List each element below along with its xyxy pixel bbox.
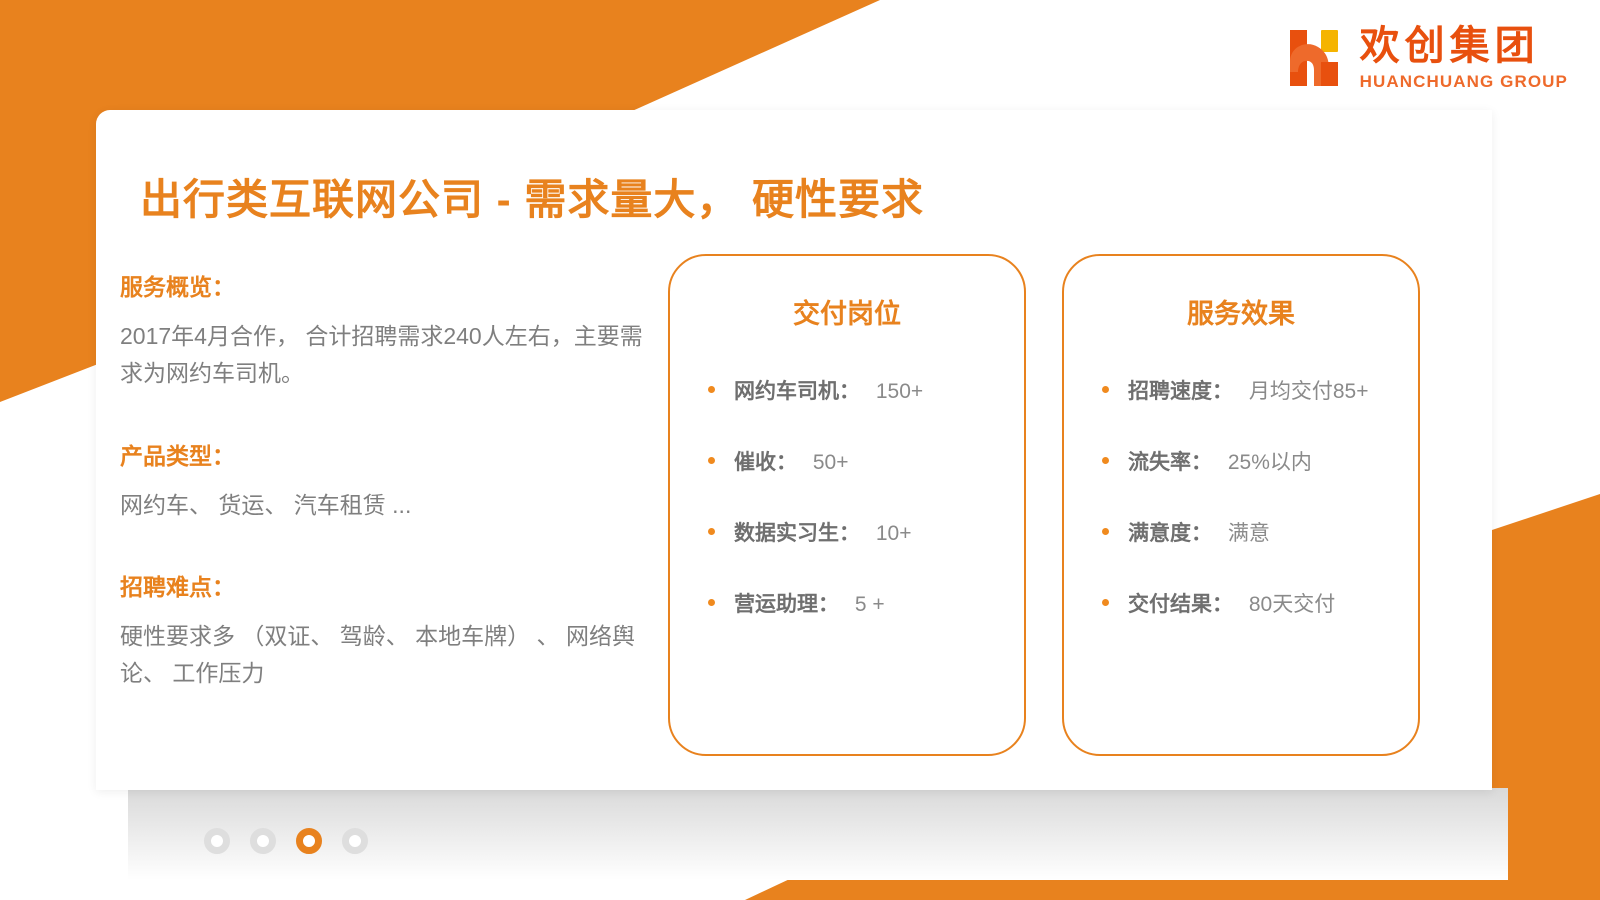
bullet-icon (1102, 528, 1109, 535)
panel-item-list: 网约车司机： 150+ 催收： 50+ 数据实习生： 10+ 营运助理： 5 + (670, 375, 1024, 618)
info-body: 硬性要求多 （双证、 驾龄、 本地车牌） 、 网络舆论、 工作压力 (120, 618, 660, 693)
slide-canvas: 欢创集团 HUANCHUANG GROUP 出行类互联网公司 - 需求量大， 硬… (0, 0, 1600, 900)
page-title: 出行类互联网公司 - 需求量大， 硬性要求 (140, 166, 924, 227)
item-label: 满意度： (1128, 522, 1212, 545)
list-item: 流失率： 25%以内 (1094, 446, 1404, 476)
info-heading: 服务概览： (120, 268, 660, 302)
info-heading: 产品类型： (120, 437, 660, 471)
item-value: 月均交付85+ (1249, 380, 1369, 403)
item-value: 50+ (813, 451, 849, 474)
item-value: 150+ (876, 380, 923, 403)
panel-title: 服务效果 (1064, 292, 1418, 331)
item-label: 数据实习生： (734, 522, 860, 545)
brand-logo: 欢创集团 HUANCHUANG GROUP (1280, 22, 1568, 94)
item-value: 25%以内 (1228, 451, 1312, 474)
list-item: 营运助理： 5 + (700, 588, 1010, 618)
pagination-dot-2[interactable] (250, 828, 276, 854)
item-value: 10+ (876, 522, 912, 545)
bullet-icon (708, 599, 715, 606)
item-value: 满意 (1228, 522, 1270, 545)
list-item: 数据实习生： 10+ (700, 517, 1010, 547)
list-item: 交付结果： 80天交付 (1094, 588, 1404, 618)
left-info-column: 服务概览： 2017年4月合作， 合计招聘需求240人左右，主要需求为网约车司机… (120, 268, 660, 692)
top-orange-banner-shape (0, 0, 880, 112)
list-item: 招聘速度： 月均交付85+ (1094, 375, 1404, 405)
bullet-icon (1102, 386, 1109, 393)
item-label: 网约车司机： (734, 380, 860, 403)
bullet-icon (1102, 457, 1109, 464)
panel-item-list: 招聘速度： 月均交付85+ 流失率： 25%以内 满意度： 满意 交付结果： 8… (1064, 375, 1418, 618)
item-value: 80天交付 (1249, 593, 1335, 616)
bullet-icon (1102, 599, 1109, 606)
info-body: 2017年4月合作， 合计招聘需求240人左右，主要需求为网约车司机。 (120, 318, 660, 393)
pagination-dot-3[interactable] (296, 828, 322, 854)
pagination-dots[interactable] (204, 828, 368, 854)
list-item: 催收： 50+ (700, 446, 1010, 476)
panel-delivered-positions: 交付岗位 网约车司机： 150+ 催收： 50+ 数据实习生： 10+ 营运助理… (668, 254, 1026, 756)
pagination-dot-1[interactable] (204, 828, 230, 854)
list-item: 满意度： 满意 (1094, 517, 1404, 547)
pagination-dot-4[interactable] (342, 828, 368, 854)
huanchuang-logo-icon (1280, 22, 1346, 94)
info-block-service-overview: 服务概览： 2017年4月合作， 合计招聘需求240人左右，主要需求为网约车司机… (120, 268, 660, 393)
info-block-product-type: 产品类型： 网约车、 货运、 汽车租赁 ... (120, 437, 660, 524)
item-label: 交付结果： (1128, 593, 1233, 616)
item-label: 催收： (734, 451, 797, 474)
info-block-recruiting-difficulty: 招聘难点： 硬性要求多 （双证、 驾龄、 本地车牌） 、 网络舆论、 工作压力 (120, 568, 660, 693)
logo-chinese-name: 欢创集团 (1360, 26, 1568, 66)
bullet-icon (708, 528, 715, 535)
right-orange-block-shape (1480, 494, 1600, 814)
info-heading: 招聘难点： (120, 568, 660, 602)
logo-text: 欢创集团 HUANCHUANG GROUP (1360, 26, 1568, 90)
item-label: 流失率： (1128, 451, 1212, 474)
bullet-icon (708, 386, 715, 393)
info-body: 网约车、 货运、 汽车租赁 ... (120, 487, 660, 524)
list-item: 网约车司机： 150+ (700, 375, 1010, 405)
item-label: 营运助理： (734, 593, 839, 616)
item-value: 5 + (855, 593, 885, 616)
item-label: 招聘速度： (1128, 380, 1233, 403)
panel-service-results: 服务效果 招聘速度： 月均交付85+ 流失率： 25%以内 满意度： 满意 交付… (1062, 254, 1420, 756)
bullet-icon (708, 457, 715, 464)
logo-english-name: HUANCHUANG GROUP (1360, 73, 1568, 90)
panel-title: 交付岗位 (670, 292, 1024, 331)
